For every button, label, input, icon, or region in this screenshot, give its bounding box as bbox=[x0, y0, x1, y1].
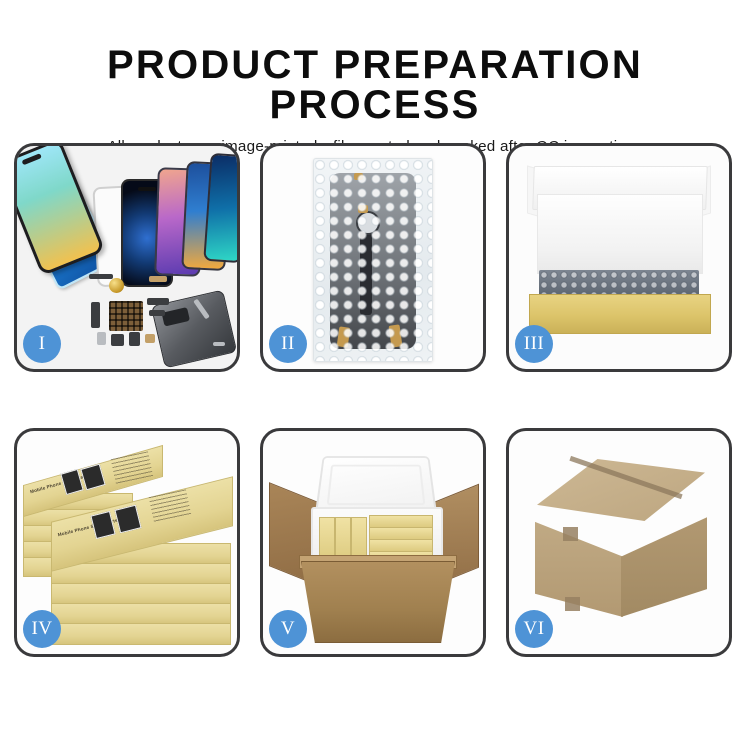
step-panel-6: VI bbox=[506, 428, 732, 657]
gold-tab bbox=[358, 205, 368, 213]
step-panel-5: V bbox=[260, 428, 486, 657]
step-panel-4: Mobile Phone Spare Parts Mobile Phone Sp… bbox=[14, 428, 240, 657]
spare-part bbox=[129, 332, 140, 346]
box-lid-face bbox=[537, 194, 703, 274]
gold-tab bbox=[354, 173, 363, 180]
gold-component bbox=[109, 278, 124, 293]
spare-part bbox=[111, 334, 124, 346]
step-badge-2: II bbox=[269, 325, 307, 363]
step-panel-3: III bbox=[506, 143, 732, 372]
step-panel-2: II bbox=[260, 143, 486, 372]
spare-part bbox=[91, 302, 100, 328]
step-badge-5: V bbox=[269, 610, 307, 648]
stacked-box bbox=[51, 623, 231, 645]
foam-padding bbox=[539, 270, 699, 296]
spare-part bbox=[89, 274, 113, 279]
bubble-wrap-bag bbox=[313, 158, 433, 362]
header: PRODUCT PREPARATION PROCESS All products… bbox=[0, 0, 750, 154]
stacked-box bbox=[51, 563, 231, 585]
spare-part bbox=[97, 332, 106, 345]
step-badge-1: I bbox=[23, 325, 61, 363]
step-badge-3: III bbox=[515, 325, 553, 363]
stacked-box bbox=[51, 583, 231, 605]
carton-top-face bbox=[537, 459, 705, 521]
flex-connector bbox=[356, 211, 380, 235]
carton-body bbox=[301, 561, 455, 643]
carton-tape-upper bbox=[563, 527, 578, 541]
step-panel-1: I bbox=[14, 143, 240, 372]
step-badge-4: IV bbox=[23, 610, 61, 648]
spare-part bbox=[149, 276, 167, 282]
process-steps-grid: I II bbox=[14, 143, 736, 678]
stacked-box bbox=[51, 603, 231, 625]
spare-part bbox=[147, 298, 169, 305]
product-preparation-infographic: PRODUCT PREPARATION PROCESS All products… bbox=[0, 0, 750, 750]
page-title: PRODUCT PREPARATION PROCESS bbox=[0, 0, 750, 125]
chip-grid-component bbox=[109, 301, 143, 331]
carton-tape-lower bbox=[565, 597, 580, 611]
kraft-box-tray bbox=[529, 294, 711, 334]
packed-screen-assembly bbox=[330, 173, 416, 349]
spare-part bbox=[145, 334, 155, 343]
step-badge-6: VI bbox=[515, 610, 553, 648]
spare-part bbox=[213, 342, 225, 346]
spare-part bbox=[149, 310, 165, 316]
